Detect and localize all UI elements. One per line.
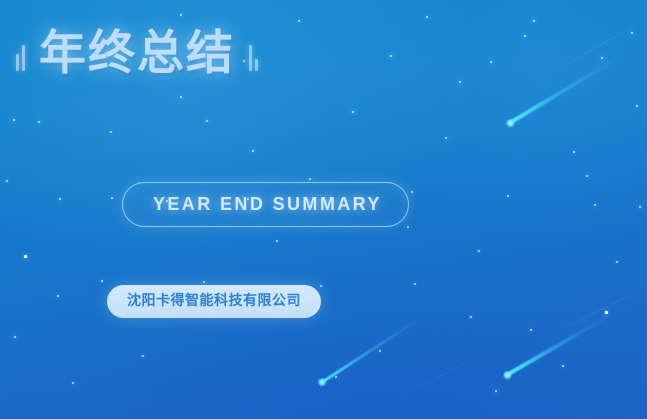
star-particle bbox=[601, 57, 603, 59]
meteor-bottom-center bbox=[319, 316, 423, 385]
star-particle bbox=[252, 150, 254, 152]
star-particle bbox=[180, 14, 182, 16]
subtitle-text: YEAR END SUMMARY bbox=[153, 195, 382, 213]
star-particle bbox=[616, 261, 618, 263]
star-particle bbox=[586, 175, 588, 177]
company-badge: 沈阳卡得智能科技有限公司 bbox=[107, 285, 321, 318]
star-particle bbox=[59, 198, 61, 200]
title-group: 年终总结 bbox=[16, 30, 258, 77]
star-particle bbox=[636, 105, 638, 107]
star-particle bbox=[470, 316, 472, 318]
presentation-cover-slide: 年终总结 YEAR END SUMMARY 沈阳卡得智能科技有限公司 bbox=[0, 0, 647, 419]
star-particle bbox=[13, 119, 15, 121]
star-particle bbox=[490, 61, 492, 63]
star-particle bbox=[298, 20, 300, 22]
star-particle bbox=[335, 376, 337, 378]
meteor-top-right bbox=[507, 54, 622, 125]
star-particle bbox=[110, 131, 112, 133]
hairline-lower-right bbox=[548, 282, 647, 337]
star-particle bbox=[14, 336, 16, 338]
star-particle bbox=[530, 329, 532, 331]
star-particle bbox=[631, 32, 633, 34]
meteor-head bbox=[316, 376, 328, 388]
star-particle bbox=[352, 111, 354, 113]
star-particle bbox=[206, 120, 208, 122]
meteor-tail bbox=[319, 316, 423, 385]
star-particle bbox=[562, 365, 564, 367]
meteor-tail bbox=[504, 313, 612, 377]
star-particle bbox=[573, 151, 575, 153]
star-particle bbox=[407, 226, 409, 228]
hairline-lower-left bbox=[398, 356, 478, 399]
star-particle bbox=[426, 16, 428, 18]
star-particle bbox=[203, 281, 205, 283]
star-particle bbox=[320, 285, 322, 287]
star-particle bbox=[57, 295, 59, 297]
company-name: 沈阳卡得智能科技有限公司 bbox=[127, 293, 301, 309]
page-title: 年终总结 bbox=[39, 30, 235, 77]
star-particle bbox=[605, 311, 608, 314]
star-particle bbox=[533, 20, 535, 22]
star-particle bbox=[524, 35, 526, 37]
decorative-ticks-left-icon bbox=[16, 37, 25, 71]
meteor-bottom-right bbox=[504, 313, 612, 377]
meteor-head bbox=[504, 117, 516, 129]
star-particle bbox=[507, 195, 509, 197]
star-particle bbox=[111, 197, 113, 199]
decorative-ticks-right-icon bbox=[249, 37, 258, 71]
star-particle bbox=[101, 280, 103, 282]
star-particle bbox=[6, 180, 8, 182]
star-particle bbox=[445, 137, 447, 139]
meteor-head bbox=[501, 369, 513, 381]
star-particle bbox=[414, 283, 416, 285]
star-particle bbox=[38, 121, 40, 123]
subtitle-pill: YEAR END SUMMARY bbox=[122, 182, 409, 227]
star-particle bbox=[411, 191, 413, 193]
star-particle bbox=[594, 204, 596, 206]
star-particle bbox=[180, 96, 182, 98]
meteor-tail bbox=[507, 54, 622, 125]
star-particle bbox=[390, 55, 392, 57]
hairline-upper-right bbox=[556, 20, 643, 71]
star-particle bbox=[459, 81, 461, 83]
star-particle bbox=[639, 206, 641, 208]
star-particle bbox=[495, 390, 497, 392]
star-particle bbox=[24, 255, 27, 258]
star-particle bbox=[478, 250, 480, 252]
star-particle bbox=[72, 382, 74, 384]
star-particle bbox=[142, 355, 144, 357]
star-particle bbox=[379, 350, 381, 352]
star-particle bbox=[309, 178, 311, 180]
star-particle bbox=[276, 240, 278, 242]
